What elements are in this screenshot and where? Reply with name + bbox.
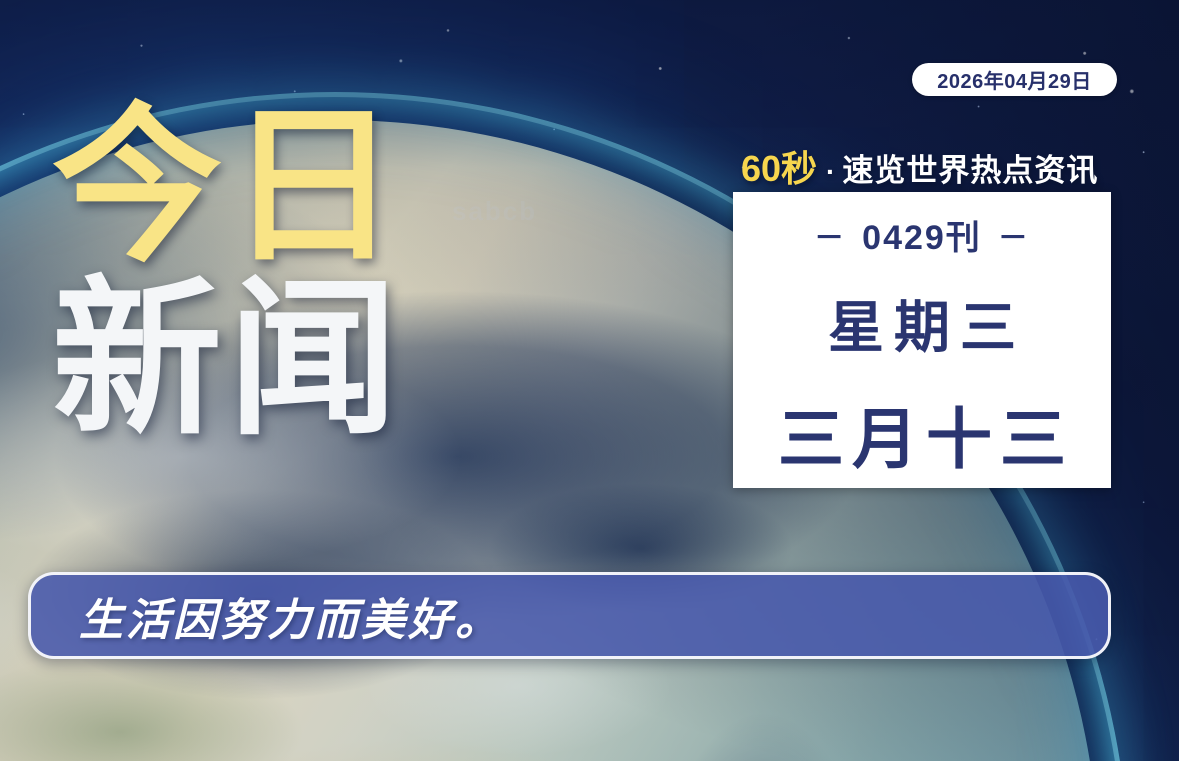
info-card: － 0429刊 － 星期三 三月十三: [733, 192, 1111, 488]
quote-text: 生活因努力而美好。: [79, 584, 502, 648]
tagline-separator: ·: [817, 156, 842, 188]
quote-banner: 生活因努力而美好。: [28, 572, 1111, 659]
issue-dash-left: －: [814, 213, 846, 257]
title-line-news: 新闻: [52, 268, 404, 453]
page-title: 今日 新闻: [52, 95, 404, 453]
issue-row: － 0429刊 －: [814, 210, 1030, 259]
lunar-date-label: 三月十三: [770, 386, 1074, 482]
tagline: 60秒 · 速览世界热点资讯: [741, 140, 1098, 192]
tagline-text: 速览世界热点资讯: [842, 145, 1098, 190]
issue-dash-right: －: [998, 213, 1030, 257]
issue-number: 0429刊: [862, 210, 982, 259]
date-badge: 2026年04月29日: [912, 63, 1117, 96]
news-poster: sabcb 今日 新闻 2026年04月29日 60秒 · 速览世界热点资讯 －…: [0, 0, 1179, 761]
weekday-label: 星期三: [818, 283, 1026, 364]
tagline-seconds: 60秒: [741, 140, 817, 192]
title-line-today: 今日: [52, 95, 404, 280]
